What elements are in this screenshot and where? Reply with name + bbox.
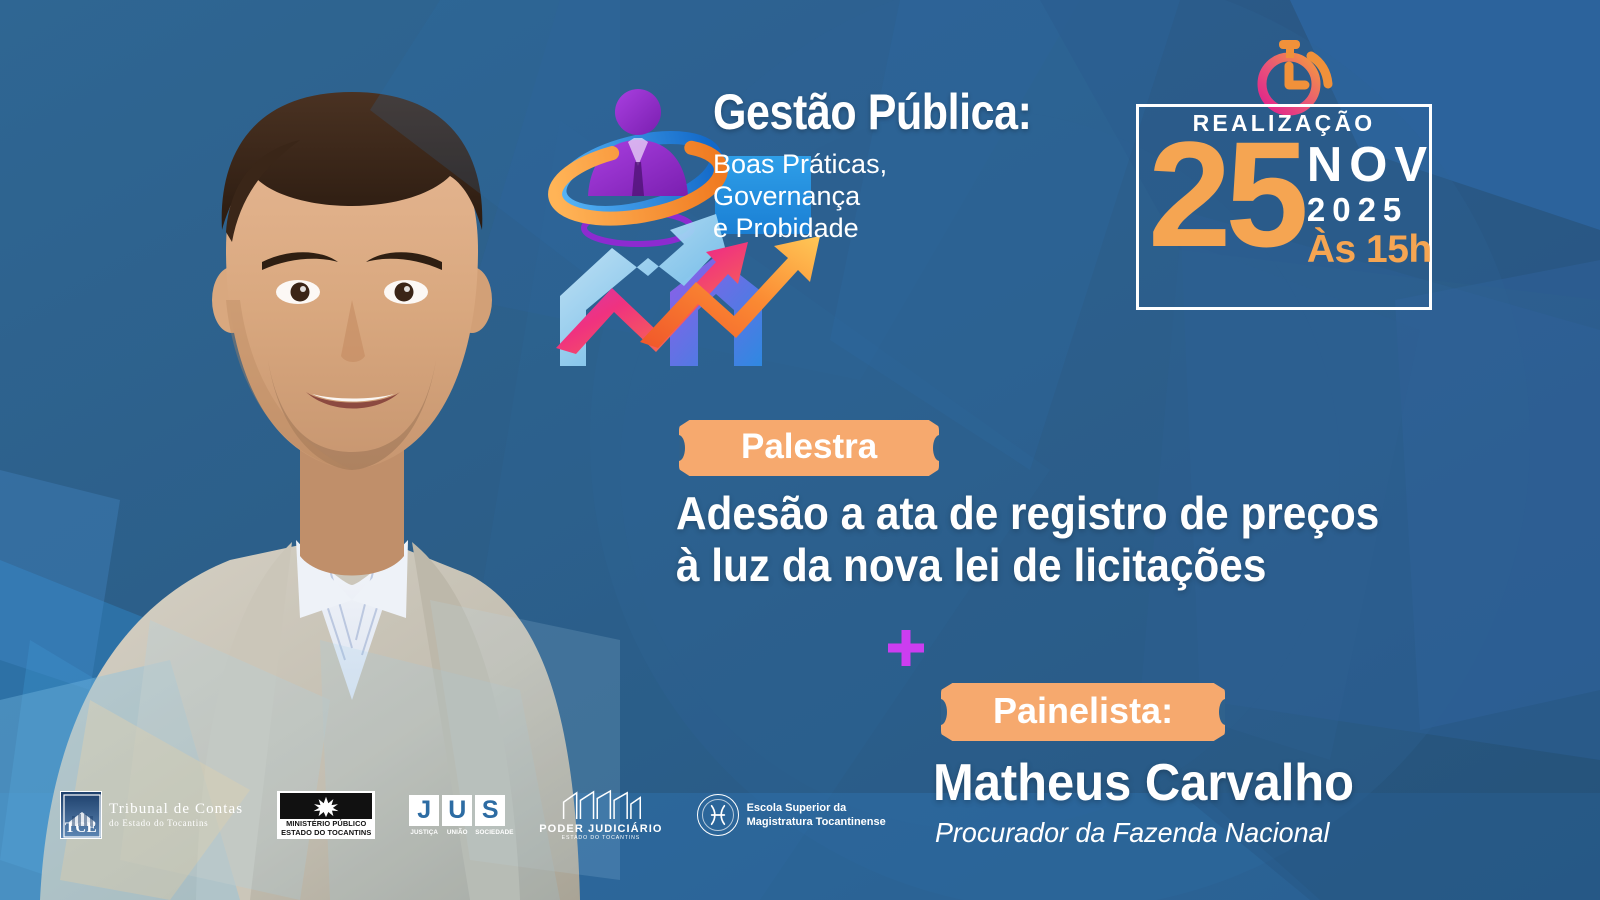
date-year: 2025	[1307, 189, 1434, 230]
pj-line-1: PODER JUDICIÁRIO	[539, 823, 662, 835]
speaker-name: Matheus Carvalho	[933, 757, 1354, 809]
esmat-line-2: Magistratura Tocantinense	[747, 815, 886, 829]
lecture-title-line-1: Adesão a ata de registro de preços	[676, 488, 1338, 540]
painelista-badge: Painelista:	[941, 683, 1225, 741]
esmat-line-1: Escola Superior da	[747, 801, 886, 815]
title-subtitle-line-1: Boas Práticas,	[713, 149, 1143, 181]
page-title: Gestão Pública:	[713, 88, 1083, 137]
jus-label-uniao: UNIÃO	[442, 829, 472, 836]
painelista-badge-wrapper: Painelista:	[941, 683, 1225, 741]
date-day: 25	[1148, 130, 1303, 259]
event-title-block: Gestão Pública: Boas Práticas, Governanç…	[713, 88, 1143, 245]
event-date: 25 NOV 2025 Às 15h	[1136, 130, 1432, 306]
tce-line-2: do Estado do Tocantins	[109, 818, 243, 829]
jus-label-sociedade: SOCIEDADE	[475, 829, 505, 836]
mp-box: MINISTÉRIO PÚBLICO ESTADO DO TOCANTINS	[277, 791, 375, 839]
palestra-badge-wrapper: Palestra	[679, 420, 939, 476]
date-month: NOV	[1307, 142, 1434, 189]
jus-letter-u: U	[442, 795, 472, 826]
partner-logo-ministerio-publico: MINISTÉRIO PÚBLICO ESTADO DO TOCANTINS	[277, 791, 375, 839]
title-subtitle-list: Boas Práticas, Governança e Probidade	[713, 149, 1143, 245]
mp-wordmark: MINISTÉRIO PÚBLICO ESTADO DO TOCANTINS	[281, 820, 371, 838]
jus-letter-s: S	[475, 795, 505, 826]
title-subtitle-line-2: Governança	[713, 181, 1143, 213]
lecture-title: Adesão a ata de registro de preços à luz…	[676, 488, 1338, 591]
partner-logo-esmat: Escola Superior da Magistratura Tocantin…	[697, 794, 886, 836]
palestra-badge: Palestra	[679, 420, 939, 476]
date-time: Às 15h	[1307, 230, 1434, 271]
partner-logo-tce: TCE Tribunal de Contas do Estado do Toca…	[60, 791, 243, 839]
tce-line-1: Tribunal de Contas	[109, 801, 243, 818]
ministerio-publico-sunburst-icon	[280, 793, 372, 819]
jus-icon: J U S	[409, 795, 505, 826]
jus-letter-j: J	[409, 795, 439, 826]
pj-line-2: ESTADO DO TOCANTINS	[562, 835, 641, 841]
esmat-wordmark: Escola Superior da Magistratura Tocantin…	[747, 801, 886, 829]
poder-judiciario-columns-icon	[558, 789, 644, 821]
mp-line-2: ESTADO DO TOCANTINS	[281, 829, 371, 838]
event-banner: Gestão Pública: Boas Práticas, Governanç…	[0, 0, 1600, 900]
title-subtitle-line-3: e Probidade	[713, 213, 1143, 245]
speaker-role: Procurador da Fazenda Nacional	[935, 818, 1329, 847]
partner-logo-jus: J U S JUSTIÇA UNIÃO SOCIEDADE	[409, 795, 505, 836]
jus-label-justica: JUSTIÇA	[409, 829, 439, 836]
partner-logo-poder-judiciario: PODER JUDICIÁRIO ESTADO DO TOCANTINS	[539, 789, 662, 841]
lecture-title-line-2: à luz da nova lei de licitações	[676, 540, 1338, 592]
partner-logos-strip: TCE Tribunal de Contas do Estado do Toca…	[60, 782, 920, 848]
date-month-year-time: NOV 2025 Às 15h	[1307, 142, 1434, 271]
esmat-seal-icon	[697, 794, 739, 836]
tce-building-icon: TCE	[60, 791, 102, 839]
jus-labels: JUSTIÇA UNIÃO SOCIEDADE	[409, 829, 505, 836]
tce-wordmark: Tribunal de Contas do Estado do Tocantin…	[109, 801, 243, 829]
plus-icon	[888, 630, 924, 666]
